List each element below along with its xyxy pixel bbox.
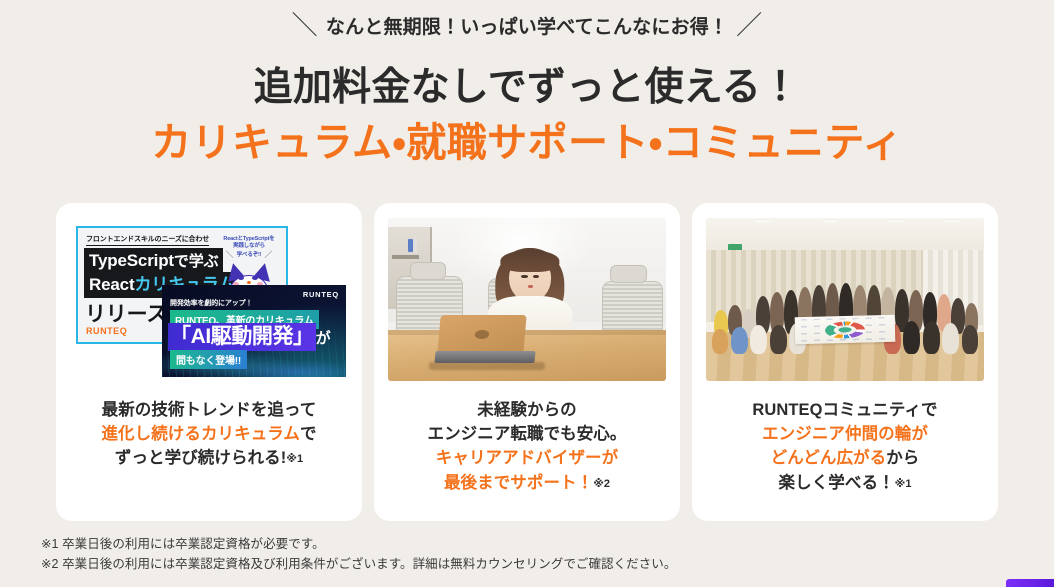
- person: [903, 321, 920, 354]
- person: [731, 327, 748, 354]
- chair-headrest-right: [610, 265, 646, 283]
- crowd-group: [706, 265, 984, 356]
- person: [942, 323, 959, 354]
- career-support-photo: [388, 218, 666, 381]
- laptop-shadow: [429, 362, 545, 370]
- caption-line-2-highlight: 進化し続けるカリキュラム: [101, 425, 300, 443]
- corner-widget-chip[interactable]: [1006, 579, 1054, 587]
- caption-line-1: RUNTEQコミュニティで: [752, 401, 937, 419]
- eyebrow-label: なんと無期限！いっぱい学べてこんなにお得！: [326, 12, 728, 39]
- caption-line-3-tail: から: [886, 449, 919, 467]
- card-community[interactable]: RUNTEQコミュニティで エンジニア仲間の輪が どんどん広がるから 楽しく学べ…: [692, 203, 998, 521]
- shelf-item-white: [414, 237, 417, 253]
- caption-note-ref: ※1: [286, 453, 303, 465]
- banner-line1-typescript: TypeScript: [89, 251, 174, 270]
- ai-driven-development-banner: RUNTEQ 開発効率を劇的にアップ！ RUNTEQ、革新のカリキュラム 「AI…: [162, 285, 346, 377]
- ceiling-light-2: [823, 221, 837, 222]
- banner-line2-react: React: [89, 275, 134, 294]
- community-photo: [706, 218, 984, 381]
- caption-line-1: 未経験からの: [477, 401, 577, 419]
- ai-banner-kicker: 開発効率を劇的にアップ！: [170, 298, 252, 308]
- person-bangs: [500, 250, 559, 272]
- runteq-logo-banner1: RUNTEQ: [86, 326, 127, 336]
- mascot-slash-left-icon: ＼: [226, 251, 234, 259]
- caption-line-3-highlight: キャリアアドバイザーが: [436, 449, 618, 467]
- slash-right-icon: ／: [736, 12, 762, 38]
- curriculum-banner-figure: フロントエンドスキルのニーズに合わせ TypeScriptで学ぶ Reactカリ…: [70, 218, 348, 381]
- caption-line-3: ずっと学び続けられる!: [115, 449, 286, 467]
- mascot-text-line1: ReactとTypeScriptを: [218, 236, 280, 243]
- ai-banner-soon-tag: 間もなく登場!!: [170, 350, 247, 369]
- mascot-text-line3: 学べるぞ!!: [237, 252, 262, 259]
- caption-line-2: エンジニア転職でも安心。: [428, 425, 627, 443]
- mascot-text-line3-wrap: ＼ 学べるぞ!! ／: [218, 251, 280, 259]
- person-lips: [528, 285, 533, 288]
- laptop-keyboard: [435, 351, 536, 363]
- feature-cards: フロントエンドスキルのニーズに合わせ TypeScriptで学ぶ Reactカリ…: [0, 203, 1054, 521]
- mascot-text-line2: 実践しながら: [218, 243, 280, 250]
- banner-line1-suffix: で学ぶ: [174, 253, 219, 270]
- chair-headrest-left: [410, 262, 446, 280]
- card-curriculum[interactable]: フロントエンドスキルのニーズに合わせ TypeScriptで学ぶ Reactカリ…: [56, 203, 362, 521]
- footnotes: ※1 卒業日後の利用には卒業認定資格が必要です。 ※2 卒業日後の利用には卒業認…: [41, 535, 676, 574]
- footnote-1: ※1 卒業日後の利用には卒業認定資格が必要です。: [41, 535, 676, 554]
- banner-line-1: TypeScriptで学ぶ: [84, 248, 223, 274]
- caption-line-2-highlight: エンジニア仲間の輪が: [762, 425, 928, 443]
- person: [923, 321, 940, 354]
- shelf-item-blue: [408, 239, 413, 252]
- ceiling-light-1: [756, 221, 770, 222]
- person: [962, 325, 979, 354]
- office-chair-right: [602, 281, 663, 332]
- footnote-2: ※2 卒業日後の利用には卒業認定資格及び利用条件がございます。詳細は無料カウンセ…: [41, 555, 676, 574]
- caption-line-4-highlight: 最後までサポート！: [444, 474, 593, 492]
- eyebrow-text: ＼ なんと無期限！いっぱい学べてこんなにお得！ ／: [292, 12, 763, 39]
- ceiling-light-4: [945, 221, 959, 222]
- caption-note-ref: ※1: [895, 478, 912, 490]
- slash-left-icon: ＼: [292, 12, 318, 38]
- runteq-logo-banner2: RUNTEQ: [303, 290, 339, 299]
- laptop-icon: [435, 317, 535, 371]
- ai-banner-tail: が: [316, 330, 331, 347]
- card-curriculum-caption: 最新の技術トレンドを追って 進化し続けるカリキュラムで ずっと学び続けられる!※…: [101, 398, 316, 471]
- caption-line-4: 楽しく学べる！: [779, 474, 895, 492]
- page-subtitle: カリキュラム・就職サポート・コミュニティ: [0, 118, 1054, 169]
- ceiling-light-3: [889, 221, 903, 222]
- caption-note-ref: ※2: [593, 478, 610, 490]
- ai-banner-headline: 「AI駆動開発」が: [168, 326, 330, 347]
- caption-line-3-highlight: どんどん広がる: [771, 449, 887, 467]
- person: [770, 325, 787, 354]
- laptop-lid: [438, 315, 527, 354]
- page-title: 追加料金なしでずっと使える！: [0, 63, 1054, 113]
- card-career-support[interactable]: 未経験からの エンジニア転職でも安心。 キャリアアドバイザーが 最後までサポート…: [374, 203, 680, 521]
- card-community-caption: RUNTEQコミュニティで エンジニア仲間の輪が どんどん広がるから 楽しく学べ…: [752, 398, 937, 496]
- community-banner: [795, 315, 896, 345]
- hero-header: ＼ なんと無期限！いっぱい学べてこんなにお得！ ／ 追加料金なしでずっと使える！…: [0, 0, 1054, 170]
- mascot-slash-right-icon: ／: [264, 251, 272, 259]
- caption-line-1: 最新の技術トレンドを追って: [102, 401, 317, 419]
- caption-line-2-tail: で: [300, 425, 317, 443]
- banner-kicker: フロントエンドスキルのニーズに合わせ: [86, 234, 209, 246]
- person: [712, 329, 729, 355]
- ai-banner-chip: 「AI駆動開発」: [168, 323, 316, 351]
- person: [750, 325, 767, 354]
- card-career-support-caption: 未経験からの エンジニア転職でも安心。 キャリアアドバイザーが 最後までサポート…: [428, 398, 627, 496]
